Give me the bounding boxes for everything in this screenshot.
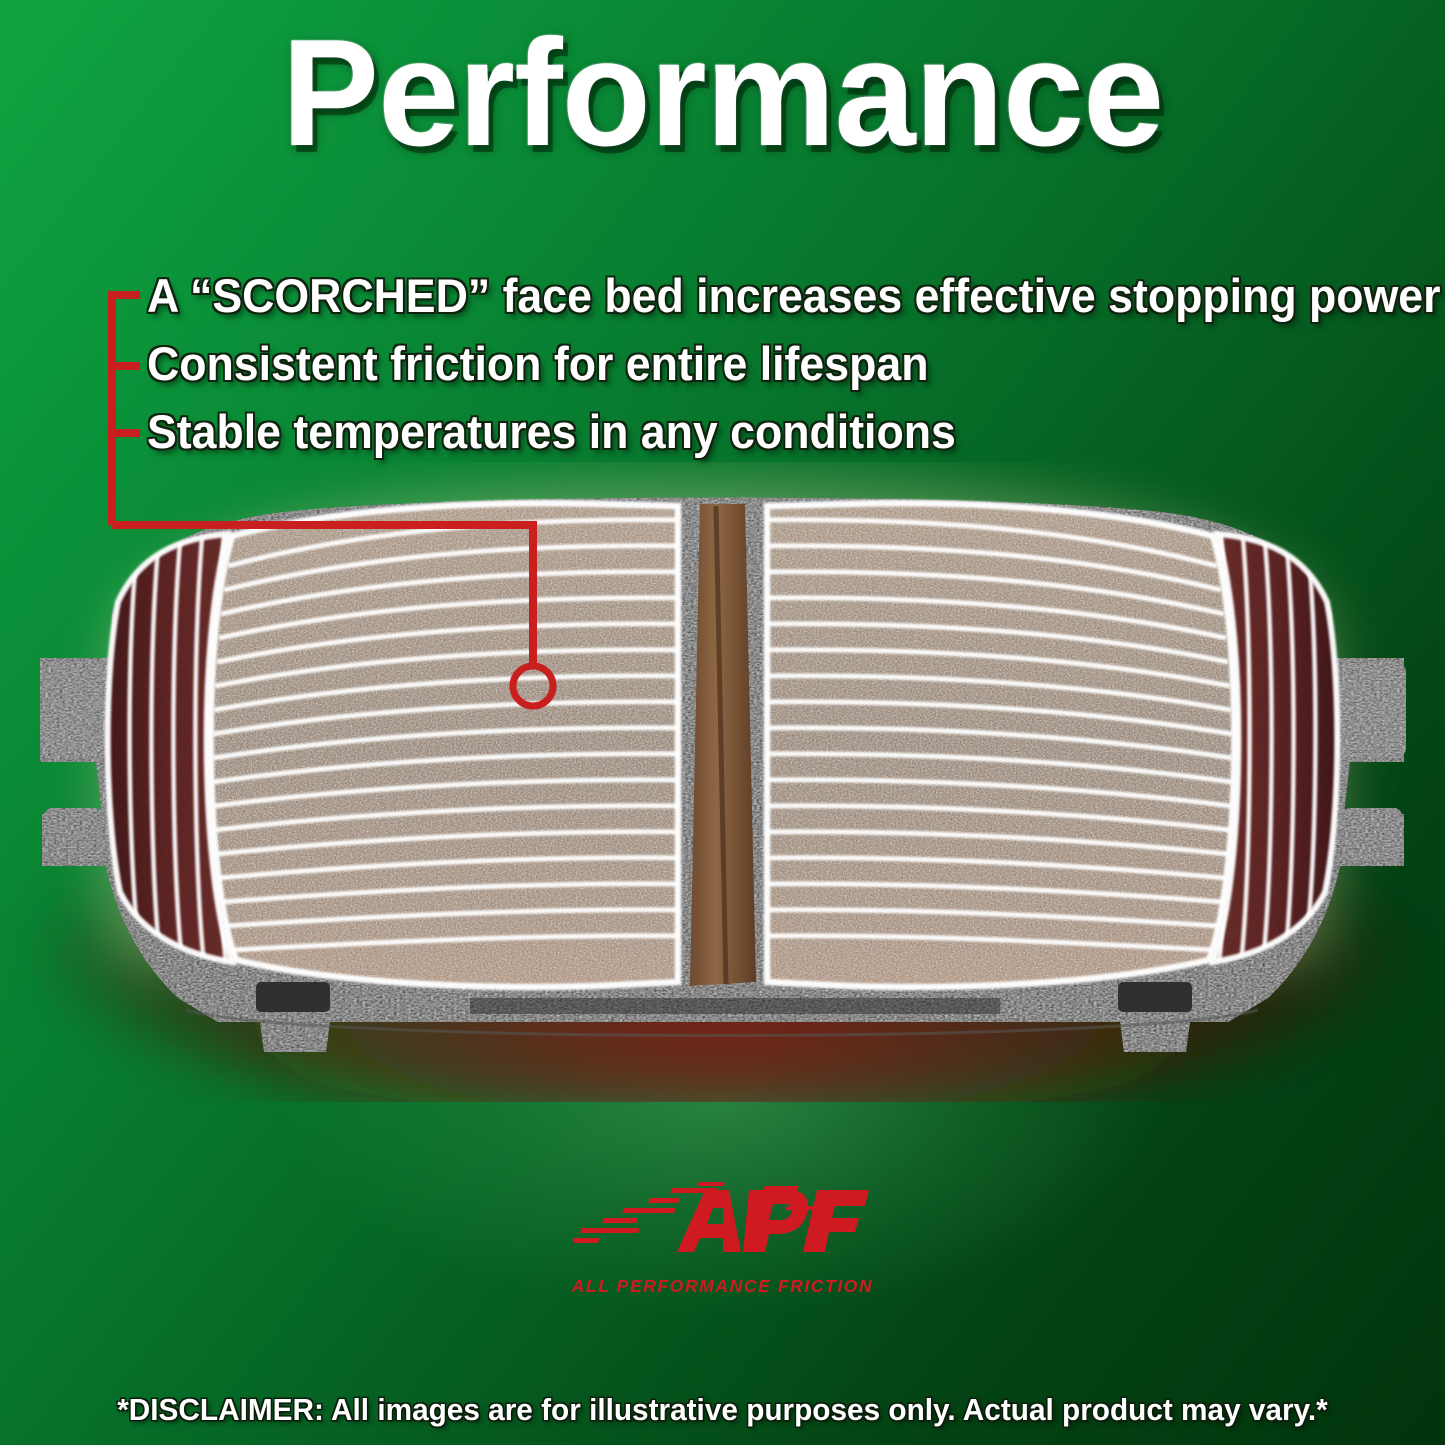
retention-tab-left <box>256 982 330 1012</box>
friction-bed-left <box>190 482 710 1012</box>
apf-logo-mark <box>573 1176 873 1272</box>
friction-bed-right <box>735 482 1255 1012</box>
brake-pad-illustration <box>0 462 1445 1102</box>
product-marketing-banner: Performance A “SCORCHED” face bed increa… <box>0 0 1445 1445</box>
feature-item-1: A “SCORCHED” face bed increases effectiv… <box>147 272 1373 319</box>
brand-tagline: ALL PERFORMANCE FRICTION <box>0 1276 1445 1297</box>
brand-logo: ALL PERFORMANCE FRICTION <box>0 1176 1445 1297</box>
disclaimer-text: *DISCLAIMER: All images are for illustra… <box>29 1392 1416 1428</box>
feature-item-2: Consistent friction for entire lifespan <box>147 340 1373 387</box>
mounting-ear-right <box>1332 662 1406 758</box>
feature-list: A “SCORCHED” face bed increases effectiv… <box>147 272 1437 476</box>
brake-pad-image <box>0 462 1445 1102</box>
mounting-ear-left <box>40 662 114 758</box>
page-title: Performance <box>29 14 1416 174</box>
feature-item-3: Stable temperatures in any conditions <box>147 408 1373 455</box>
retention-tab-right <box>1118 982 1192 1012</box>
